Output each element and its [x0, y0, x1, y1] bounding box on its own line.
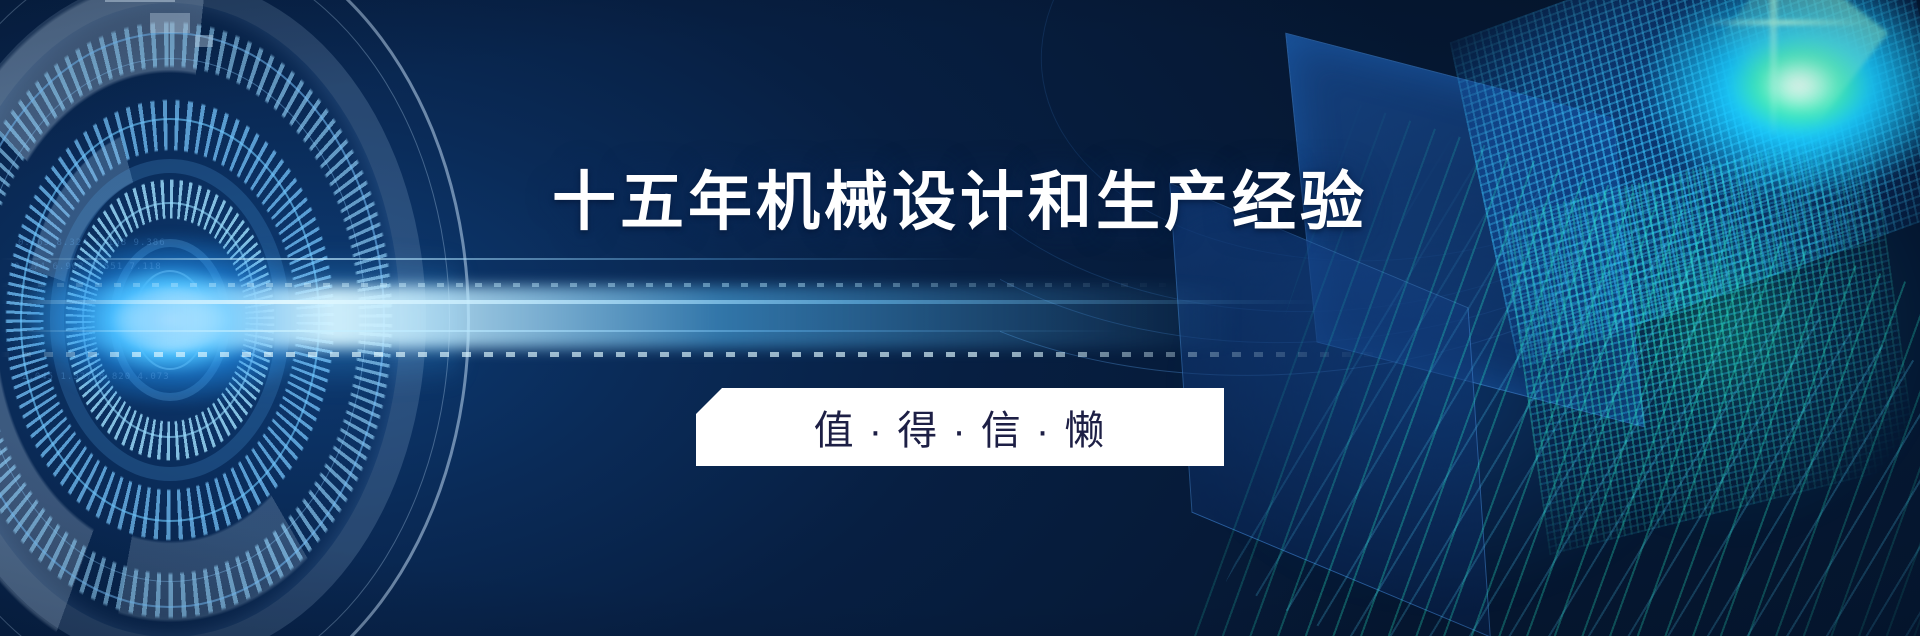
page-title: 十五年机械设计和生产经验	[0, 170, 1920, 234]
subtitle-text: 值 · 得 · 信 · 懒	[814, 398, 1107, 456]
subtitle-badge: 值 · 得 · 信 · 懒	[696, 388, 1224, 466]
banner-root: 0.269 8.324 1.168 9.386 0.174 6.902 3.55…	[0, 0, 1920, 636]
vignette-overlay	[0, 0, 1920, 636]
subtitle-wrapper: 值 · 得 · 信 · 懒	[0, 388, 1920, 466]
